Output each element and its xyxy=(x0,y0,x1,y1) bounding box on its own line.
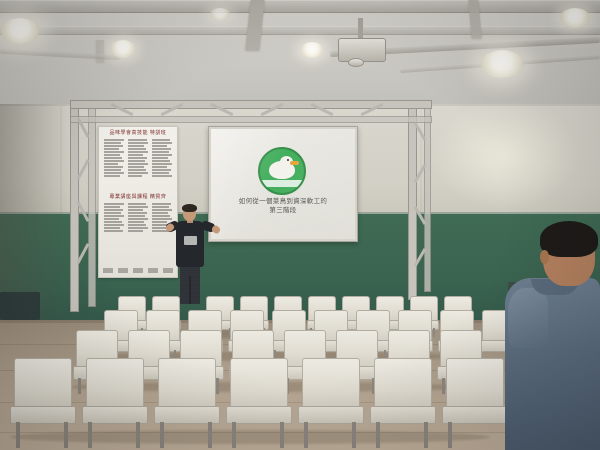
poster-column-3 xyxy=(152,139,172,177)
room-equipment-left xyxy=(0,292,40,320)
ceiling-light-2 xyxy=(110,40,136,58)
sponsor-logo-2 xyxy=(118,268,128,273)
ceiling-light-6 xyxy=(210,8,230,20)
audience-shoulder-highlight xyxy=(508,288,548,348)
truss-post-right xyxy=(408,100,417,300)
slide-caption-line2: 第三階段 xyxy=(219,206,347,215)
sponsor-logo-3 xyxy=(133,268,143,273)
duck-bill xyxy=(290,161,299,165)
ceiling-light-5 xyxy=(560,8,590,28)
duck-logo-band xyxy=(260,180,304,187)
projection-screen: 如何從一個菜鳥到資深軟工的 第三階段 xyxy=(208,126,358,242)
event-poster: 品味學會高技能 特訓班 專業講座與課 xyxy=(98,126,178,278)
wall-light-glow xyxy=(430,100,580,210)
photo-scene: 品味學會高技能 特訓班 專業講座與課 xyxy=(0,0,600,450)
truss-post-left-inner xyxy=(88,100,96,307)
chair-r4-c6-back xyxy=(374,358,432,412)
projector-mount-arm xyxy=(358,18,363,40)
projector-lens xyxy=(348,58,364,67)
poster-column-2 xyxy=(128,139,148,177)
sponsor-logo-4 xyxy=(148,268,158,273)
chair-r4-c5-back xyxy=(302,358,360,412)
ceiling-duct-back xyxy=(0,26,600,35)
speaker-shirt-print xyxy=(184,236,197,245)
ceiling-projector xyxy=(338,38,386,62)
sponsor-logo-5 xyxy=(163,268,173,273)
screen-surface: 如何從一個菜鳥到資深軟工的 第三階段 xyxy=(211,129,355,239)
sponsor-logo-1 xyxy=(103,268,113,273)
chair-r4-c2-back xyxy=(86,358,144,412)
slide-caption: 如何從一個菜鳥到資深軟工的 第三階段 xyxy=(219,197,347,215)
chair-row4-shadow xyxy=(10,430,490,444)
poster-column-1 xyxy=(104,139,124,177)
ceiling-light-1 xyxy=(0,18,40,44)
audience-hair xyxy=(540,221,598,257)
slide-caption-line1: 如何從一個菜鳥到資深軟工的 xyxy=(219,197,347,206)
poster-column-4 xyxy=(104,203,124,232)
poster-sponsor-logos xyxy=(103,268,173,273)
audience-ear xyxy=(540,250,549,264)
truss-post-right-inner xyxy=(424,100,431,292)
poster-column-5 xyxy=(128,203,148,232)
truss-beam-top-2 xyxy=(70,116,432,123)
speaker-leg-gap xyxy=(189,276,191,304)
chair-r4-c1-back xyxy=(14,358,72,412)
speaker-hair xyxy=(182,204,197,212)
poster-heading-mid: 專業講座與課程 精質齊 xyxy=(99,193,177,200)
ceiling-light-3 xyxy=(300,42,324,58)
chair-r4-c3-back xyxy=(158,358,216,412)
duck-eye xyxy=(287,159,289,161)
green-duck-logo-icon xyxy=(258,147,306,195)
ceiling-light-4 xyxy=(480,50,524,78)
poster-heading-top: 品味學會高技能 特訓班 xyxy=(99,129,177,136)
ceiling-duct-front xyxy=(0,0,600,13)
chair-r4-c4-back xyxy=(230,358,288,412)
chair-r4-c7-back xyxy=(446,358,504,412)
